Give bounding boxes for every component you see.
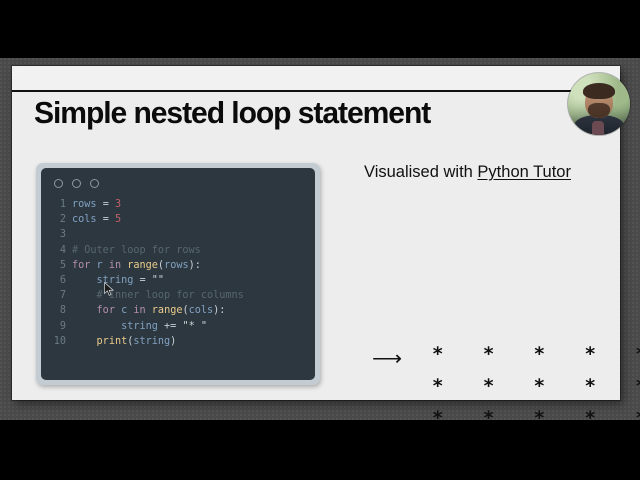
code-window: 1rows = 3 2cols = 5 3 4# Outer loop for … <box>41 168 315 380</box>
code-block[interactable]: 1rows = 3 2cols = 5 3 4# Outer loop for … <box>49 197 307 349</box>
right-arrow-icon: ⟶ <box>372 348 402 369</box>
line-number: 6 <box>49 273 66 288</box>
line-number: 8 <box>49 303 66 318</box>
video-frame: Simple nested loop statement 1rows = 3 2… <box>0 0 640 480</box>
python-tutor-link[interactable]: Python Tutor <box>477 163 571 181</box>
code-card: 1rows = 3 2cols = 5 3 4# Outer loop for … <box>36 163 320 385</box>
line-number: 9 <box>49 319 66 334</box>
program-output: * * * * * * * * * * * * * * * <box>432 338 640 434</box>
window-controls <box>54 179 307 188</box>
line-number: 3 <box>49 227 66 242</box>
window-dot-close-icon[interactable] <box>54 179 63 188</box>
line-number: 10 <box>49 334 66 349</box>
line-number: 5 <box>49 258 66 273</box>
caption-text: Visualised with Python Tutor <box>364 160 589 185</box>
output-row: * * * * * <box>432 375 640 397</box>
page-title: Simple nested loop statement <box>34 95 558 131</box>
line-number: 2 <box>49 212 66 227</box>
caption-prefix: Visualised with <box>364 163 477 181</box>
line-number: 4 <box>49 243 66 258</box>
presenter-webcam <box>568 73 630 135</box>
output-row: * * * * * <box>432 343 640 365</box>
slide-topbar <box>12 66 620 92</box>
window-dot-minimize-icon[interactable] <box>72 179 81 188</box>
line-number: 7 <box>49 288 66 303</box>
presentation-slide: Simple nested loop statement 1rows = 3 2… <box>12 66 620 400</box>
window-dot-maximize-icon[interactable] <box>90 179 99 188</box>
line-number: 1 <box>49 197 66 212</box>
output-row: * * * * * <box>432 407 640 429</box>
